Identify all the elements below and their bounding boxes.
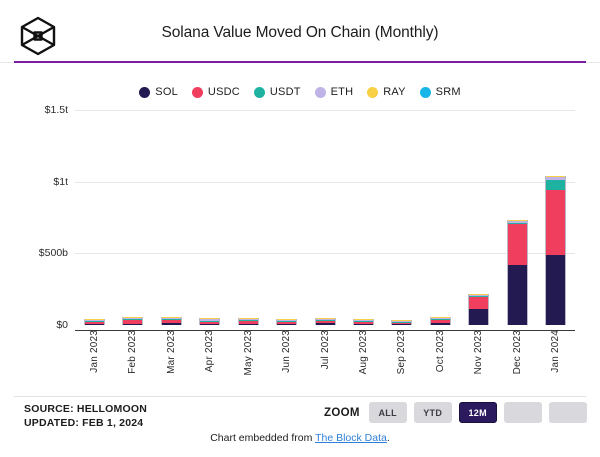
x-tick-label: Jul 2023 (320, 330, 331, 373)
bar-segment-sol (431, 323, 450, 325)
bar-group[interactable] (152, 110, 190, 325)
legend-swatch-usdt-icon (254, 87, 265, 98)
x-tick-label: Jan 2024 (550, 330, 561, 377)
bar-group[interactable] (460, 110, 498, 325)
bar-segment-usdc (508, 224, 527, 265)
legend-label: ETH (331, 86, 354, 98)
bar-segment-usdc (469, 297, 488, 308)
x-tick-label: Apr 2023 (204, 330, 215, 376)
bar-group[interactable] (537, 110, 575, 325)
chart-widget: Solana Value Moved On Chain (Monthly) SO… (0, 0, 600, 457)
bar-segment-sol (546, 255, 565, 325)
bar-group[interactable] (383, 110, 421, 325)
bar-stack[interactable] (468, 294, 489, 325)
bar-segment-sol (316, 323, 335, 325)
page-title: Solana Value Moved On Chain (Monthly) (0, 24, 600, 42)
bar-group[interactable] (190, 110, 228, 325)
bar-group[interactable] (75, 110, 113, 325)
header-accent-rule (14, 61, 586, 63)
zoom-button-5[interactable] (549, 402, 587, 423)
bar-segment-sol (123, 324, 142, 325)
x-tick-slot: Feb 2023 (113, 330, 151, 392)
y-tick-label: $1t (10, 176, 68, 188)
x-tick-slot: Mar 2023 (152, 330, 190, 392)
x-tick-label: May 2023 (243, 330, 254, 380)
bar-stack[interactable] (161, 317, 182, 325)
bar-segment-sol (239, 324, 258, 325)
bar-segment-sol (354, 324, 373, 325)
chart-header: Solana Value Moved On Chain (Monthly) (0, 0, 600, 62)
bar-stack[interactable] (238, 318, 259, 325)
x-tick-label: Dec 2023 (512, 330, 523, 378)
bar-stack[interactable] (199, 318, 220, 325)
zoom-label: ZOOM (324, 407, 360, 419)
y-tick-label: $500b (10, 247, 68, 259)
x-tick-slot: Aug 2023 (344, 330, 382, 392)
legend-item-eth[interactable]: ETH (315, 86, 354, 98)
legend-item-ray[interactable]: RAY (367, 86, 405, 98)
y-tick-label: $1.5t (10, 104, 68, 116)
legend-label: USDC (208, 86, 240, 98)
bar-segment-usdt (546, 180, 565, 190)
bar-segment-sol (277, 324, 296, 325)
bar-group[interactable] (229, 110, 267, 325)
legend-item-usdt[interactable]: USDT (254, 86, 301, 98)
legend-swatch-ray-icon (367, 87, 378, 98)
legend-label: USDT (270, 86, 301, 98)
bar-stack[interactable] (507, 220, 528, 325)
x-tick-slot: Jan 2024 (537, 330, 575, 392)
bar-group[interactable] (267, 110, 305, 325)
bar-stack[interactable] (315, 318, 336, 325)
legend-label: RAY (383, 86, 405, 98)
legend-item-usdc[interactable]: USDC (192, 86, 240, 98)
bar-stack[interactable] (122, 317, 143, 325)
zoom-button-12m[interactable]: 12M (459, 402, 497, 423)
bar-group[interactable] (498, 110, 536, 325)
footer-divider (14, 396, 586, 397)
updated-line: UPDATED: FEB 1, 2024 (24, 416, 147, 430)
zoom-controls: ZOOM ALLYTD12M (324, 402, 587, 423)
x-tick-label: Nov 2023 (473, 330, 484, 378)
bar-segment-usdc (546, 190, 565, 255)
x-tick-label: Feb 2023 (127, 330, 138, 378)
x-tick-slot: Oct 2023 (421, 330, 459, 392)
x-tick-label: Aug 2023 (358, 330, 369, 378)
bar-stack[interactable] (276, 319, 297, 325)
zoom-button-4[interactable] (504, 402, 542, 423)
x-tick-label: Jan 2023 (89, 330, 100, 377)
x-tick-slot: Jan 2023 (75, 330, 113, 392)
source-info: SOURCE: HELLOMOON UPDATED: FEB 1, 2024 (24, 402, 147, 430)
bar-segment-sol (469, 309, 488, 325)
bar-stack[interactable] (430, 317, 451, 325)
bar-segment-sol (85, 324, 104, 325)
plot-area (75, 110, 575, 330)
bar-group[interactable] (344, 110, 382, 325)
x-tick-label: Mar 2023 (166, 330, 177, 378)
x-tick-slot: Jul 2023 (306, 330, 344, 392)
legend-item-srm[interactable]: SRM (420, 86, 461, 98)
source-line: SOURCE: HELLOMOON (24, 402, 147, 416)
x-tick-label: Jun 2023 (281, 330, 292, 377)
bar-group[interactable] (421, 110, 459, 325)
chart-legend: SOLUSDCUSDTETHRAYSRM (0, 86, 600, 98)
legend-swatch-srm-icon (420, 87, 431, 98)
embed-note: Chart embedded from The Block Data. (0, 432, 600, 444)
bar-segment-sol (162, 323, 181, 325)
x-tick-label: Sep 2023 (396, 330, 407, 378)
zoom-button-ytd[interactable]: YTD (414, 402, 452, 423)
x-tick-slot: May 2023 (229, 330, 267, 392)
bar-stack[interactable] (353, 319, 374, 325)
the-block-data-link[interactable]: The Block Data (315, 432, 387, 444)
bar-group[interactable] (306, 110, 344, 325)
bar-series-container (75, 110, 575, 325)
embed-suffix: . (387, 432, 390, 444)
bar-stack[interactable] (391, 320, 412, 325)
bar-stack[interactable] (84, 319, 105, 325)
bar-segment-sol (392, 324, 411, 325)
x-axis-labels: Jan 2023Feb 2023Mar 2023Apr 2023May 2023… (75, 330, 575, 392)
legend-swatch-eth-icon (315, 87, 326, 98)
bar-stack[interactable] (545, 176, 566, 325)
legend-item-sol[interactable]: SOL (139, 86, 178, 98)
legend-swatch-sol-icon (139, 87, 150, 98)
legend-swatch-usdc-icon (192, 87, 203, 98)
legend-label: SOL (155, 86, 178, 98)
legend-label: SRM (436, 86, 461, 98)
x-tick-slot: Jun 2023 (267, 330, 305, 392)
y-tick-label: $0 (10, 319, 68, 331)
x-tick-slot: Nov 2023 (460, 330, 498, 392)
bar-segment-sol (200, 324, 219, 325)
bar-segment-sol (508, 265, 527, 325)
x-tick-slot: Apr 2023 (190, 330, 228, 392)
embed-prefix: Chart embedded from (210, 432, 315, 444)
x-tick-slot: Dec 2023 (498, 330, 536, 392)
x-tick-slot: Sep 2023 (383, 330, 421, 392)
x-tick-label: Oct 2023 (435, 330, 446, 376)
bar-group[interactable] (113, 110, 151, 325)
zoom-button-all[interactable]: ALL (369, 402, 407, 423)
